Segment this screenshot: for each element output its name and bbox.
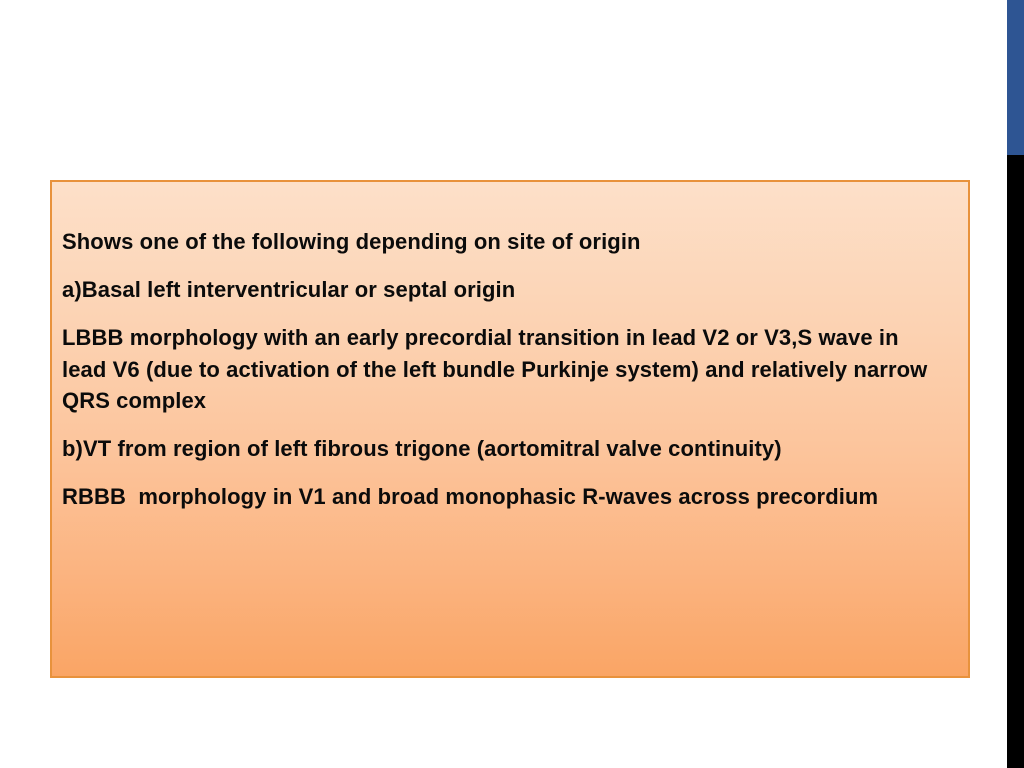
paragraph-lbbb-description: LBBB morphology with an early precordial… (62, 322, 946, 416)
paragraph-intro: Shows one of the following depending on … (62, 226, 946, 257)
paragraph-item-b: b)VT from region of left fibrous trigone… (62, 433, 946, 464)
paragraph-item-a: a)Basal left interventricular or septal … (62, 274, 946, 305)
content-panel: Shows one of the following depending on … (50, 180, 970, 678)
paragraph-rbbb-description: RBBB morphology in V1 and broad monophas… (62, 481, 946, 512)
slide-canvas: Shows one of the following depending on … (0, 0, 1024, 768)
blue-accent-bar (1007, 0, 1024, 155)
black-accent-bar (1007, 155, 1024, 768)
